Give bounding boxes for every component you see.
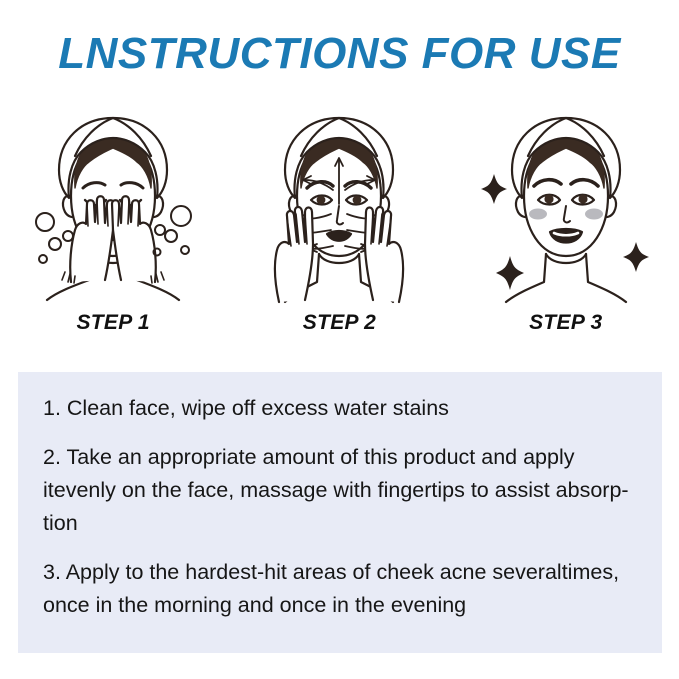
step-3-label: STEP 3 (466, 311, 666, 335)
woman-smiling-with-sparkles-icon (466, 104, 666, 309)
blush-left (529, 209, 547, 220)
blush-right (585, 209, 603, 220)
step-2-label: STEP 2 (239, 311, 439, 335)
step-labels-row: STEP 1 STEP 2 STEP 3 (0, 306, 679, 340)
steps-illustration-row (0, 104, 679, 309)
step-1-figure (13, 104, 213, 309)
instruction-line-3: 3. Apply to the hardest-hit areas of che… (43, 556, 638, 622)
page-title: LNSTRUCTIONS FOR USE (0, 30, 679, 78)
woman-washing-face-with-bubbles-icon (13, 104, 213, 309)
instruction-line-1: 1. Clean face, wipe off excess water sta… (43, 392, 638, 425)
step-2-figure (239, 104, 439, 309)
step-3-figure (466, 104, 666, 309)
instructions-page: LNSTRUCTIONS FOR USE (0, 0, 679, 679)
instruction-line-2: 2. Take an appropriate amount of this pr… (43, 441, 638, 540)
instructions-panel: 1. Clean face, wipe off excess water sta… (18, 372, 662, 653)
step-1-label: STEP 1 (13, 311, 213, 335)
woman-massaging-face-with-arrows-icon (239, 104, 439, 309)
